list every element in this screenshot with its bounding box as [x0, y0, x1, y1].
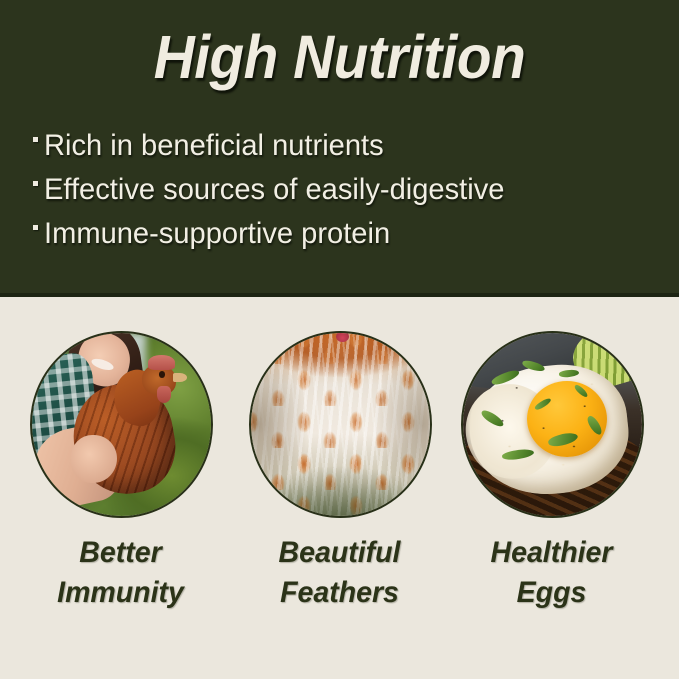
woman-holding-hen-photo — [30, 331, 213, 518]
benefit-bullet-list: Rich in beneficial nutrients Effective s… — [33, 128, 653, 260]
benefit-caption: Beautiful Feathers — [234, 533, 446, 613]
benefit-card-eggs: Healthier Eggs — [440, 301, 663, 621]
square-bullet-icon — [33, 181, 38, 186]
caption-line: Healthier — [446, 533, 658, 573]
header-panel: High Nutrition Rich in beneficial nutrie… — [0, 0, 679, 297]
bullet-text: Rich in beneficial nutrients — [44, 128, 384, 164]
header-divider — [0, 293, 679, 297]
benefit-card-immunity: Better Immunity — [9, 301, 232, 621]
caption-line: Immunity — [15, 573, 227, 613]
page-title: High Nutrition — [24, 22, 655, 92]
bullet-item: Effective sources of easily-digestive — [33, 172, 653, 216]
benefit-card-feathers: Beautiful Feathers — [228, 301, 451, 621]
square-bullet-icon — [33, 137, 38, 142]
bullet-text: Immune-supportive protein — [44, 216, 390, 252]
benefits-panel: Better Immunity Beautiful Feathers — [0, 301, 679, 679]
bullet-item: Rich in beneficial nutrients — [33, 128, 653, 172]
bullet-text: Effective sources of easily-digestive — [44, 172, 504, 208]
square-bullet-icon — [33, 225, 38, 230]
caption-line: Beautiful — [234, 533, 446, 573]
benefit-caption: Better Immunity — [15, 533, 227, 613]
bullet-item: Immune-supportive protein — [33, 216, 653, 260]
fried-egg-dish-photo — [461, 331, 644, 518]
product-infographic: High Nutrition Rich in beneficial nutrie… — [0, 0, 679, 679]
benefit-caption: Healthier Eggs — [446, 533, 658, 613]
caption-line: Feathers — [234, 573, 446, 613]
caption-line: Better — [15, 533, 227, 573]
caption-line: Eggs — [446, 573, 658, 613]
chicken-feathers-closeup-photo — [249, 331, 432, 518]
